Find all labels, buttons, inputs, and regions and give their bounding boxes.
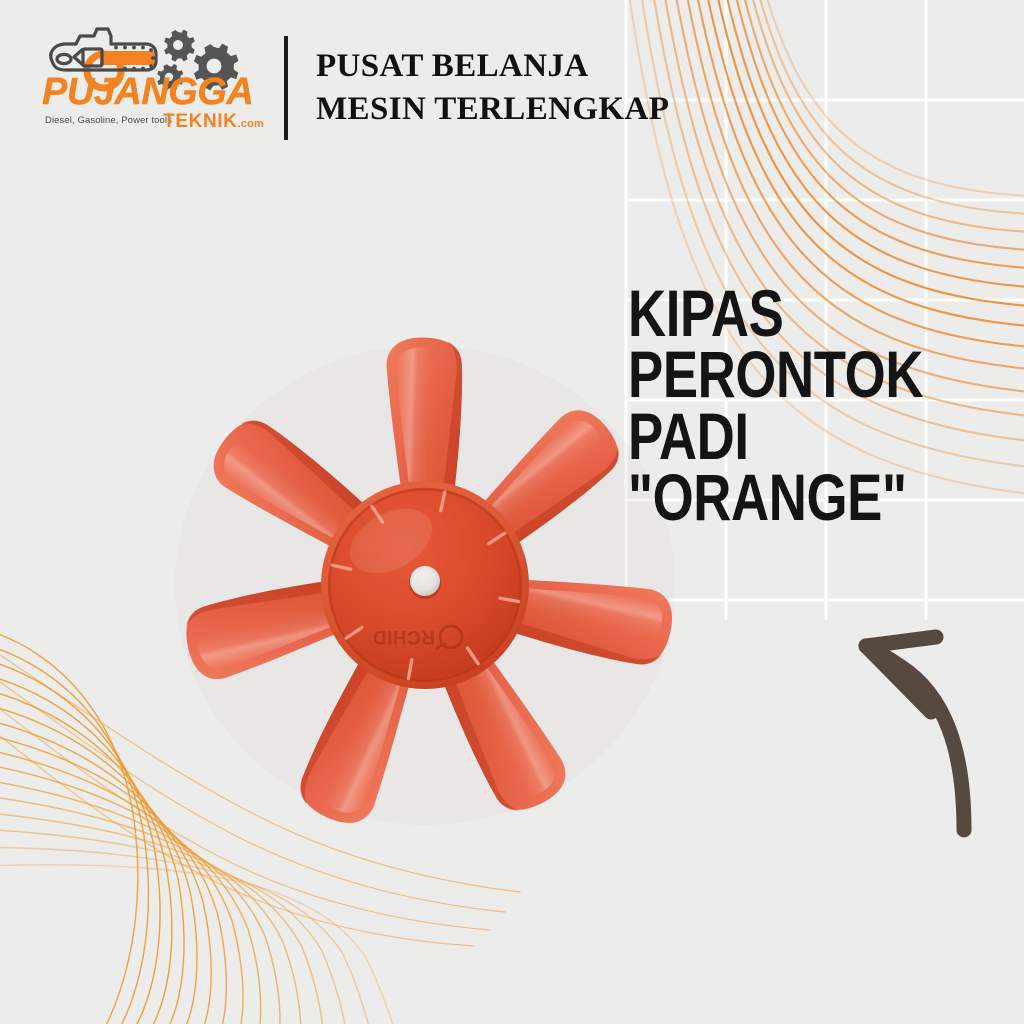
logo-sub-brand: TEKNIK.com	[163, 111, 264, 133]
page-title: KIPAS PERONTOK PADI "ORANGE"	[628, 283, 945, 529]
poster-canvas: RCHID	[0, 0, 1024, 1024]
logo-tagline: Diesel, Gasoline, Power tools	[45, 115, 172, 126]
gear-icon-medium	[164, 30, 195, 62]
brand-logo[interactable]: PUJANGGA Diesel, Gasoline, Power tools T…	[42, 25, 260, 150]
poster-header: PUJANGGA Diesel, Gasoline, Power tools T…	[0, 0, 760, 175]
logo-sub-brand-text: TEKNIK	[163, 111, 237, 132]
fan-hub: RCHID	[321, 481, 529, 689]
header-tagline: PUSAT BELANJA MESIN TERLENGKAP	[316, 45, 669, 129]
header-divider	[284, 36, 288, 140]
svg-text:RCHID: RCHID	[372, 626, 435, 647]
logo-domain-text: .com	[238, 118, 264, 130]
logo-wordmark: PUJANGGA	[42, 73, 260, 111]
